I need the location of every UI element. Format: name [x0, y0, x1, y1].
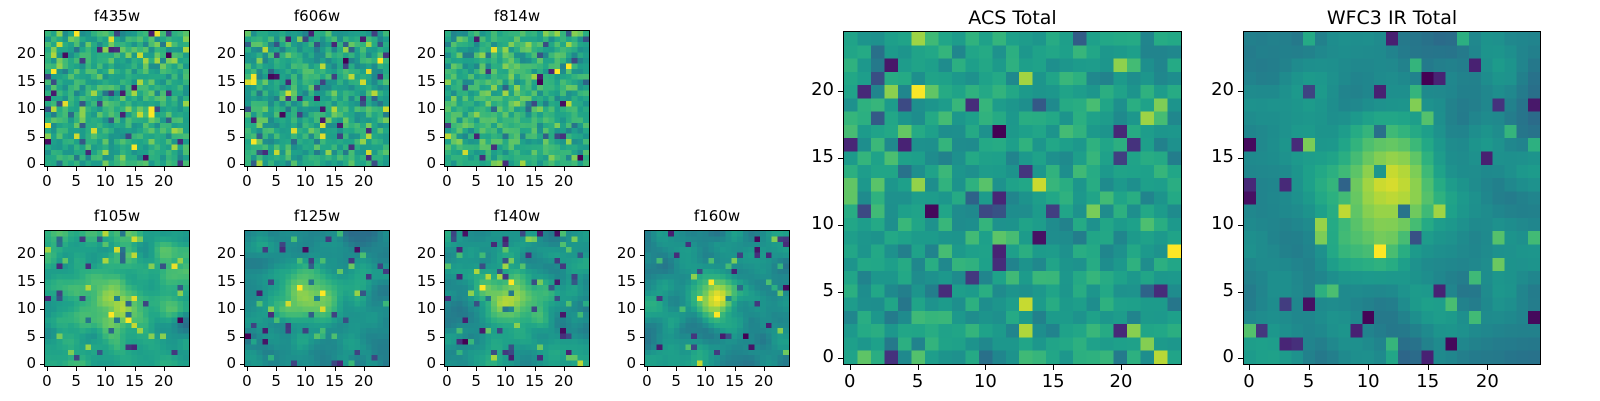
y-ticklabel-f435w-20: 20: [0, 46, 36, 61]
y-ticklabel-f606w-10: 10: [184, 101, 236, 116]
x-tick-f160w-20: [764, 367, 765, 371]
x-tick-f125w-15: [335, 367, 336, 371]
x-tick-f105w-10: [105, 367, 106, 371]
y-tick-f814w-10: [440, 109, 444, 110]
y-ticklabel-f435w-10: 10: [0, 101, 36, 116]
panel-acs-total: ACS Total0510152005101520: [783, 5, 1202, 399]
y-ticklabel-acs-total-0: 0: [783, 348, 834, 366]
heatmap-f606w: [244, 30, 390, 167]
x-ticklabel-wfc3-ir-total-20: 20: [1462, 373, 1512, 391]
x-tick-acs-total-5: [918, 365, 919, 370]
panel-wfc3-ir-total: WFC3 IR Total0510152005101520: [1183, 5, 1561, 399]
x-ticklabel-acs-total-15: 15: [1028, 373, 1078, 391]
x-tick-acs-total-20: [1121, 365, 1122, 370]
x-ticklabel-wfc3-ir-total-15: 15: [1403, 373, 1453, 391]
y-tick-acs-total-5: [838, 292, 843, 293]
x-tick-f606w-10: [305, 167, 306, 171]
y-ticklabel-f125w-20: 20: [184, 246, 236, 261]
x-tick-f606w-5: [276, 167, 277, 171]
x-tick-f125w-20: [364, 367, 365, 371]
y-ticklabel-f105w-5: 5: [0, 329, 36, 344]
y-tick-f105w-15: [40, 282, 44, 283]
y-tick-f814w-0: [440, 164, 444, 165]
y-ticklabel-f125w-15: 15: [184, 274, 236, 289]
x-tick-f435w-0: [47, 167, 48, 171]
x-tick-f105w-20: [164, 367, 165, 371]
x-tick-acs-total-0: [850, 365, 851, 370]
y-ticklabel-f160w-20: 20: [584, 246, 636, 261]
x-tick-acs-total-10: [985, 365, 986, 370]
y-tick-f435w-0: [40, 164, 44, 165]
y-ticklabel-f814w-5: 5: [384, 129, 436, 144]
y-ticklabel-f606w-15: 15: [184, 74, 236, 89]
y-tick-f606w-20: [240, 55, 244, 56]
x-ticklabel-wfc3-ir-total-10: 10: [1343, 373, 1393, 391]
y-ticklabel-f814w-20: 20: [384, 46, 436, 61]
y-ticklabel-f160w-0: 0: [584, 356, 636, 371]
x-ticklabel-f105w-20: 20: [139, 374, 189, 389]
y-ticklabel-f160w-5: 5: [584, 329, 636, 344]
y-tick-f435w-10: [40, 109, 44, 110]
y-tick-f814w-15: [440, 82, 444, 83]
x-tick-wfc3-ir-total-0: [1249, 365, 1250, 370]
y-ticklabel-f125w-0: 0: [184, 356, 236, 371]
x-tick-f125w-5: [276, 367, 277, 371]
y-tick-f160w-0: [640, 364, 644, 365]
panel-f125w: f125w0510152005101520: [184, 204, 410, 401]
y-ticklabel-f140w-5: 5: [384, 329, 436, 344]
y-ticklabel-f160w-10: 10: [584, 301, 636, 316]
y-ticklabel-f125w-10: 10: [184, 301, 236, 316]
y-ticklabel-f160w-15: 15: [584, 274, 636, 289]
x-tick-f140w-10: [505, 367, 506, 371]
x-tick-f105w-15: [135, 367, 136, 371]
x-tick-f140w-5: [476, 367, 477, 371]
y-tick-f814w-20: [440, 55, 444, 56]
heatmap-f435w: [44, 30, 190, 167]
x-ticklabel-acs-total-20: 20: [1096, 373, 1146, 391]
y-ticklabel-wfc3-ir-total-5: 5: [1183, 282, 1234, 300]
x-tick-wfc3-ir-total-15: [1428, 365, 1429, 370]
x-ticklabel-wfc3-ir-total-5: 5: [1284, 373, 1334, 391]
y-ticklabel-acs-total-10: 10: [783, 215, 834, 233]
y-tick-wfc3-ir-total-5: [1238, 292, 1243, 293]
y-tick-f125w-20: [240, 255, 244, 256]
x-ticklabel-acs-total-10: 10: [960, 373, 1010, 391]
y-tick-f105w-5: [40, 337, 44, 338]
x-tick-f814w-10: [505, 167, 506, 171]
x-tick-f125w-10: [305, 367, 306, 371]
panel-title-f140w: f140w: [444, 209, 590, 224]
x-tick-f606w-0: [247, 167, 248, 171]
x-ticklabel-f814w-20: 20: [539, 174, 589, 189]
y-tick-f140w-5: [440, 337, 444, 338]
panel-f814w: f814w0510152005101520: [384, 4, 610, 201]
x-tick-f814w-0: [447, 167, 448, 171]
y-tick-f606w-0: [240, 164, 244, 165]
y-ticklabel-f105w-15: 15: [0, 274, 36, 289]
y-ticklabel-f140w-20: 20: [384, 246, 436, 261]
y-tick-f160w-15: [640, 282, 644, 283]
y-ticklabel-acs-total-20: 20: [783, 81, 834, 99]
panel-title-wfc3-ir-total: WFC3 IR Total: [1243, 9, 1541, 28]
panel-title-acs-total: ACS Total: [843, 9, 1182, 28]
x-tick-f606w-20: [364, 167, 365, 171]
y-ticklabel-f606w-5: 5: [184, 129, 236, 144]
heatmap-f125w: [244, 230, 390, 367]
y-ticklabel-wfc3-ir-total-20: 20: [1183, 81, 1234, 99]
heatmap-f814w: [444, 30, 590, 167]
y-ticklabel-wfc3-ir-total-0: 0: [1183, 348, 1234, 366]
y-ticklabel-wfc3-ir-total-15: 15: [1183, 148, 1234, 166]
y-ticklabel-f606w-0: 0: [184, 156, 236, 171]
y-tick-f105w-20: [40, 255, 44, 256]
y-tick-f160w-10: [640, 309, 644, 310]
x-tick-f140w-20: [564, 367, 565, 371]
y-tick-f105w-0: [40, 364, 44, 365]
y-tick-wfc3-ir-total-10: [1238, 225, 1243, 226]
x-ticklabel-f125w-20: 20: [339, 374, 389, 389]
heatmap-f160w: [644, 230, 790, 367]
heatmap-f140w: [444, 230, 590, 367]
panel-f435w: f435w0510152005101520: [0, 4, 210, 201]
x-tick-f105w-0: [47, 367, 48, 371]
x-tick-f140w-0: [447, 367, 448, 371]
x-tick-wfc3-ir-total-20: [1487, 365, 1488, 370]
x-tick-f160w-0: [647, 367, 648, 371]
y-ticklabel-f435w-0: 0: [0, 156, 36, 171]
y-tick-f606w-5: [240, 137, 244, 138]
x-tick-wfc3-ir-total-5: [1309, 365, 1310, 370]
y-tick-f105w-10: [40, 309, 44, 310]
heatmap-f105w: [44, 230, 190, 367]
y-ticklabel-f140w-15: 15: [384, 274, 436, 289]
heatmap-wfc3-ir-total: [1243, 31, 1541, 365]
panel-title-f125w: f125w: [244, 209, 390, 224]
y-ticklabel-acs-total-5: 5: [783, 282, 834, 300]
y-ticklabel-f814w-10: 10: [384, 101, 436, 116]
y-tick-f125w-15: [240, 282, 244, 283]
x-tick-acs-total-15: [1053, 365, 1054, 370]
y-tick-f606w-10: [240, 109, 244, 110]
x-tick-f435w-10: [105, 167, 106, 171]
panel-title-f814w: f814w: [444, 9, 590, 24]
y-tick-wfc3-ir-total-20: [1238, 91, 1243, 92]
panel-f140w: f140w0510152005101520: [384, 204, 610, 401]
y-ticklabel-f140w-10: 10: [384, 301, 436, 316]
y-tick-f140w-0: [440, 364, 444, 365]
panel-title-f105w: f105w: [44, 209, 190, 224]
x-ticklabel-f606w-20: 20: [339, 174, 389, 189]
x-tick-f435w-20: [164, 167, 165, 171]
y-tick-f160w-5: [640, 337, 644, 338]
y-ticklabel-f435w-15: 15: [0, 74, 36, 89]
y-tick-f160w-20: [640, 255, 644, 256]
y-tick-acs-total-0: [838, 358, 843, 359]
y-tick-f435w-5: [40, 137, 44, 138]
x-tick-f435w-15: [135, 167, 136, 171]
y-ticklabel-acs-total-15: 15: [783, 148, 834, 166]
y-tick-wfc3-ir-total-15: [1238, 158, 1243, 159]
x-tick-f814w-15: [535, 167, 536, 171]
x-tick-f160w-10: [705, 367, 706, 371]
panel-f160w: f160w0510152005101520: [584, 204, 810, 401]
y-tick-acs-total-15: [838, 158, 843, 159]
panel-title-f435w: f435w: [44, 9, 190, 24]
panel-f606w: f606w0510152005101520: [184, 4, 410, 201]
x-ticklabel-f435w-20: 20: [139, 174, 189, 189]
x-tick-f140w-15: [535, 367, 536, 371]
x-tick-wfc3-ir-total-10: [1368, 365, 1369, 370]
x-tick-f606w-15: [335, 167, 336, 171]
y-ticklabel-f435w-5: 5: [0, 129, 36, 144]
x-tick-f814w-20: [564, 167, 565, 171]
panel-title-f606w: f606w: [244, 9, 390, 24]
y-ticklabel-f105w-10: 10: [0, 301, 36, 316]
y-ticklabel-f105w-20: 20: [0, 246, 36, 261]
y-ticklabel-f814w-15: 15: [384, 74, 436, 89]
x-tick-f105w-5: [76, 367, 77, 371]
x-tick-f160w-5: [676, 367, 677, 371]
x-tick-f160w-15: [735, 367, 736, 371]
x-tick-f814w-5: [476, 167, 477, 171]
y-tick-f125w-10: [240, 309, 244, 310]
x-ticklabel-f160w-20: 20: [739, 374, 789, 389]
y-ticklabel-f140w-0: 0: [384, 356, 436, 371]
x-ticklabel-acs-total-0: 0: [825, 373, 875, 391]
x-tick-f125w-0: [247, 367, 248, 371]
y-ticklabel-f125w-5: 5: [184, 329, 236, 344]
y-tick-f125w-0: [240, 364, 244, 365]
x-ticklabel-f140w-20: 20: [539, 374, 589, 389]
x-ticklabel-wfc3-ir-total-0: 0: [1224, 373, 1274, 391]
figure-canvas: f435w0510152005101520f606w05101520051015…: [0, 0, 1600, 400]
panel-f105w: f105w0510152005101520: [0, 204, 210, 401]
y-ticklabel-f814w-0: 0: [384, 156, 436, 171]
panel-title-f160w: f160w: [644, 209, 790, 224]
y-tick-f140w-10: [440, 309, 444, 310]
y-tick-f140w-15: [440, 282, 444, 283]
y-ticklabel-wfc3-ir-total-10: 10: [1183, 215, 1234, 233]
x-tick-f435w-5: [76, 167, 77, 171]
x-ticklabel-acs-total-5: 5: [893, 373, 943, 391]
y-tick-acs-total-20: [838, 91, 843, 92]
y-tick-f125w-5: [240, 337, 244, 338]
y-tick-f435w-20: [40, 55, 44, 56]
y-tick-f814w-5: [440, 137, 444, 138]
y-tick-wfc3-ir-total-0: [1238, 358, 1243, 359]
y-ticklabel-f105w-0: 0: [0, 356, 36, 371]
y-tick-f435w-15: [40, 82, 44, 83]
y-ticklabel-f606w-20: 20: [184, 46, 236, 61]
y-tick-f606w-15: [240, 82, 244, 83]
heatmap-acs-total: [843, 31, 1182, 365]
y-tick-acs-total-10: [838, 225, 843, 226]
y-tick-f140w-20: [440, 255, 444, 256]
